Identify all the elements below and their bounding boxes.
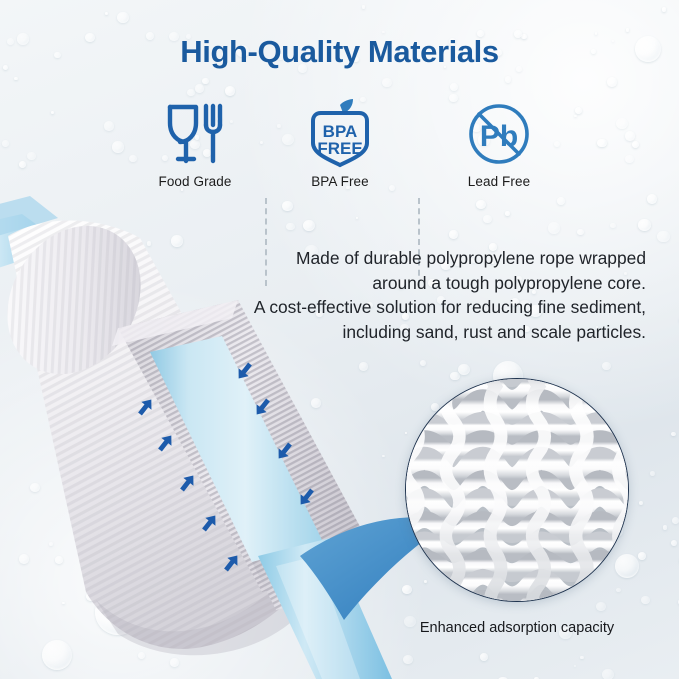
page-title: High-Quality Materials bbox=[0, 34, 679, 70]
badge-bpa-free: BPA FREE BPA Free bbox=[265, 98, 415, 189]
magnified-fiber-inset bbox=[405, 378, 629, 602]
flow-arrow bbox=[274, 440, 295, 462]
woven-fiber-texture bbox=[405, 378, 629, 602]
inset-caption: Enhanced adsorption capacity bbox=[392, 620, 642, 636]
flow-arrow bbox=[155, 432, 176, 454]
badge-label: Lead Free bbox=[424, 174, 574, 189]
flow-arrow bbox=[296, 486, 317, 508]
water-outlet-tube bbox=[258, 538, 392, 679]
flow-arrow bbox=[135, 396, 156, 418]
badge-label: Food Grade bbox=[120, 174, 270, 189]
infographic-canvas: High-Quality Materials bbox=[0, 0, 679, 679]
badge-label: BPA Free bbox=[265, 174, 415, 189]
water-flow-arrows bbox=[135, 360, 317, 574]
bpa-free-shield-icon: BPA FREE bbox=[265, 98, 415, 170]
flow-arrow bbox=[221, 552, 242, 574]
certification-badge-row: Food Grade BPA FREE BPA Free Pb bbox=[0, 98, 679, 203]
flow-arrow bbox=[252, 396, 273, 418]
description-line: A cost-effective solution for reducing f… bbox=[226, 295, 646, 320]
badge-lead-free: Pb Lead Free bbox=[424, 98, 574, 189]
description-paragraph: Made of durable polypropylene rope wrapp… bbox=[226, 246, 646, 344]
free-text: FREE bbox=[317, 139, 362, 158]
fork-and-glass-icon bbox=[120, 98, 270, 170]
flow-arrow bbox=[234, 360, 255, 382]
cartridge-cutaway-section bbox=[112, 300, 378, 610]
flow-arrow bbox=[177, 472, 198, 494]
no-lead-icon: Pb bbox=[424, 98, 574, 170]
badge-food-grade: Food Grade bbox=[120, 98, 270, 189]
description-line: Made of durable polypropylene rope wrapp… bbox=[226, 246, 646, 271]
description-line: including sand, rust and scale particles… bbox=[226, 320, 646, 345]
water-inlet-tube bbox=[0, 196, 66, 268]
flow-arrow bbox=[199, 512, 220, 534]
description-line: around a tough polypropylene core. bbox=[226, 271, 646, 296]
